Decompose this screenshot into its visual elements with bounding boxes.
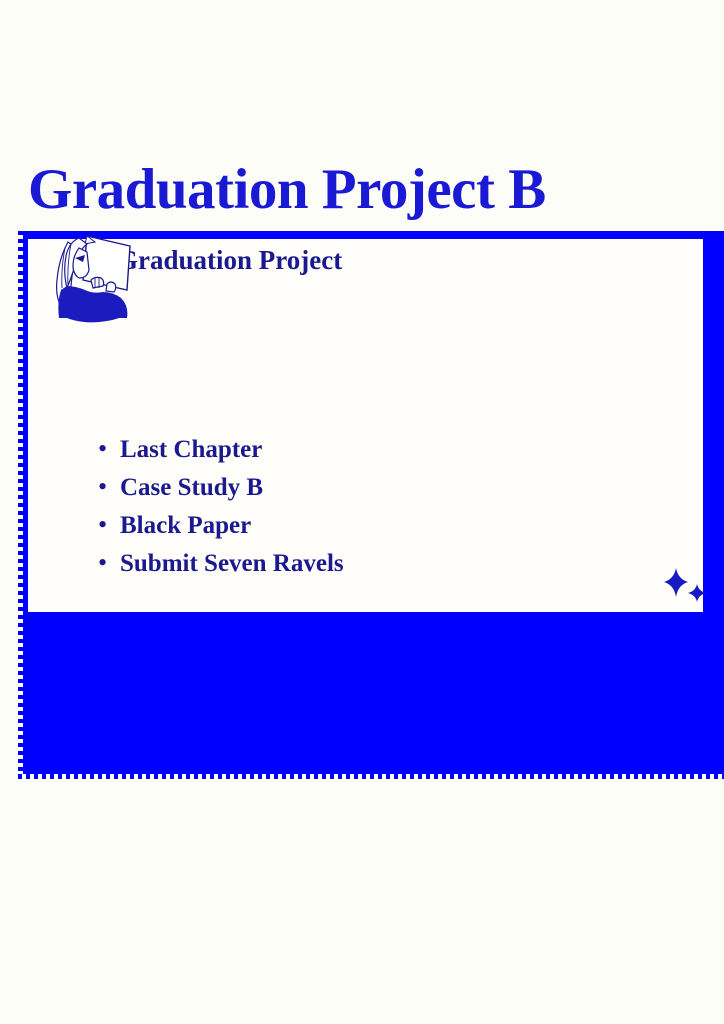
list-item-label: Black Paper: [120, 507, 251, 545]
frame-bottom-dotted-edge: [18, 774, 724, 779]
page-title: Graduation Project B: [28, 159, 688, 221]
frame-left-dotted-edge: [18, 231, 23, 779]
list-item: • Last Chapter: [98, 430, 638, 468]
bullet-dot-icon: •: [98, 544, 120, 582]
list-item-label: Submit Seven Ravels: [120, 545, 344, 583]
list-item: • Black Paper: [98, 506, 638, 544]
bullet-list: • Last Chapter • Case Study B • Black Pa…: [98, 430, 638, 582]
list-item-label: Last Chapter: [120, 431, 262, 469]
person-reading-paper-clipart: [35, 228, 147, 328]
bullet-dot-icon: •: [98, 468, 120, 506]
bullet-dot-icon: •: [98, 430, 120, 468]
bullet-dot-icon: •: [98, 506, 120, 544]
sparkle-stars-icon: [660, 566, 710, 606]
list-item: • Case Study B: [98, 468, 638, 506]
slide-canvas: Graduation Project B Graduation Project: [0, 0, 724, 1024]
list-item-label: Case Study B: [120, 469, 263, 507]
section-heading-label: Graduation Project: [113, 245, 342, 275]
list-item: • Submit Seven Ravels: [98, 544, 638, 582]
